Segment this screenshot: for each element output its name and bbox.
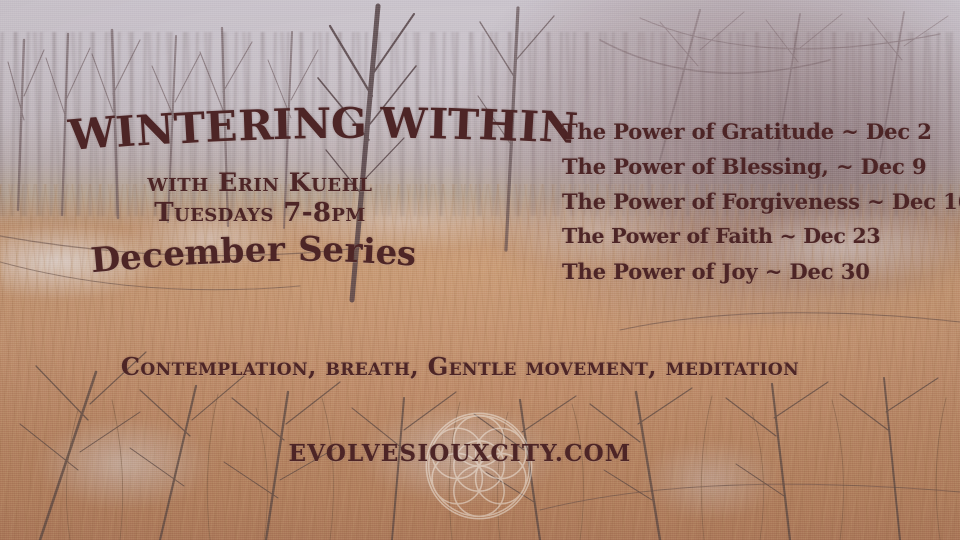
- session-item: The Power of Gratitude ~ Dec 2: [562, 114, 954, 149]
- presenter-line: with Erin Kuehl: [0, 168, 520, 198]
- session-item: The Power of Faith ~ Dec 23: [562, 219, 954, 254]
- session-item: The Power of Forgiveness ~ Dec 16: [562, 184, 954, 219]
- session-separator: ~: [860, 189, 892, 214]
- session-item: The Power of Joy ~ Dec 30: [562, 254, 954, 289]
- tagline: Contemplation, breath, Gentle movement, …: [0, 352, 920, 381]
- session-date: Dec 2: [866, 119, 932, 144]
- poster-canvas: WINTERING WITHIN with Erin Kuehl Tuesday…: [0, 0, 960, 540]
- website-url: EVOLVESIOUXCITY.COM: [0, 440, 920, 467]
- byline-block: with Erin Kuehl Tuesdays 7-8pm: [0, 168, 520, 228]
- session-title: The Power of Joy: [562, 259, 758, 284]
- session-date: Dec 30: [789, 259, 869, 284]
- session-list: The Power of Gratitude ~ Dec 2The Power …: [562, 114, 954, 289]
- session-separator: ~: [829, 154, 861, 179]
- session-separator: ~: [834, 119, 866, 144]
- session-title: The Power of Gratitude: [562, 119, 834, 144]
- session-separator: ~: [773, 224, 804, 248]
- session-item: The Power of Blessing, ~ Dec 9: [562, 149, 954, 184]
- session-date: Dec 16: [892, 189, 960, 214]
- session-title: The Power of Forgiveness: [562, 189, 860, 214]
- series-label: December Series: [92, 243, 472, 293]
- session-date: Dec 9: [861, 154, 927, 179]
- schedule-line: Tuesdays 7-8pm: [0, 198, 520, 228]
- poster-text-layer: WINTERING WITHIN with Erin Kuehl Tuesday…: [0, 0, 960, 540]
- session-title: The Power of Faith: [562, 224, 773, 248]
- session-title: The Power of Blessing,: [562, 154, 829, 179]
- session-separator: ~: [758, 259, 790, 284]
- session-date: Dec 23: [803, 224, 880, 248]
